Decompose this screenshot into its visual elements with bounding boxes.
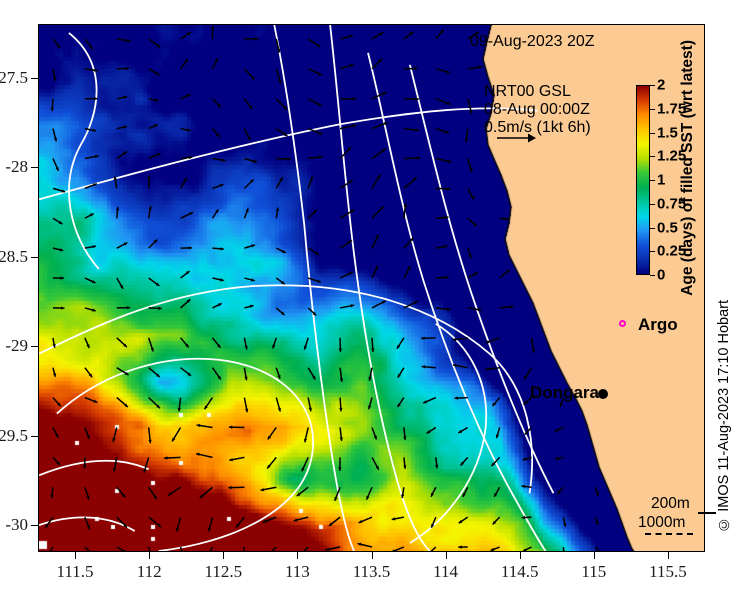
velocity-vector-head xyxy=(126,67,129,70)
bathymetry-contour xyxy=(274,25,354,551)
x-axis-tick xyxy=(75,552,76,559)
right-arrow-icon xyxy=(496,130,536,146)
bathymetry-contour xyxy=(39,108,538,199)
map-plot-area[interactable] xyxy=(38,24,705,552)
velocity-vector-head xyxy=(211,26,214,29)
bathymetry-contour xyxy=(39,517,135,531)
colorbar-tick xyxy=(650,156,655,157)
bathymetry-contour xyxy=(39,461,149,476)
velocity-vector-head xyxy=(116,207,119,211)
x-axis-tick xyxy=(668,552,669,559)
velocity-vector-head xyxy=(61,306,64,309)
colorbar-tick xyxy=(650,251,655,252)
velocity-vector xyxy=(45,547,53,551)
bathymetry-contour xyxy=(57,359,313,551)
copyright-notice: © IMOS 11-Aug-2023 17:10 Hobart xyxy=(716,300,732,532)
colorbar-tick-label: 0.5 xyxy=(657,219,678,236)
velocity-vector-head xyxy=(151,348,154,352)
velocity-vector-head xyxy=(414,67,417,70)
x-axis-tick xyxy=(594,552,595,559)
x-axis-label: 115.5 xyxy=(633,562,703,582)
dongara-label: Dongara xyxy=(530,383,599,403)
bathymetry-contour xyxy=(39,285,532,493)
velocity-vector-head xyxy=(339,348,342,351)
velocity-vector-head xyxy=(277,375,280,379)
velocity-vector-head xyxy=(220,247,224,250)
x-axis-tick xyxy=(297,552,298,559)
colorbar-tick-label: 0 xyxy=(657,267,665,284)
y-axis-label: -29.5 xyxy=(0,426,28,446)
depth-legend-200m-label: 200m xyxy=(651,495,690,513)
velocity-vector-head xyxy=(422,365,426,368)
current-timestamp-label: 08-Aug 00:00Z xyxy=(484,100,590,120)
velocity-vector-head xyxy=(458,545,461,548)
argo-marker-icon xyxy=(619,320,626,327)
velocity-vector-head xyxy=(61,276,64,279)
velocity-vector-head xyxy=(188,246,191,249)
velocity-vector-head xyxy=(445,130,449,133)
velocity-vector-head xyxy=(229,425,232,428)
velocity-vector-head xyxy=(353,97,356,100)
y-axis-tick xyxy=(31,346,38,347)
velocity-vector xyxy=(85,547,96,551)
colorbar-title: Age (days) of filled SST (wrt latest) xyxy=(679,40,697,296)
velocity-vector xyxy=(242,547,244,551)
x-axis-tick xyxy=(446,552,447,559)
velocity-vector-head xyxy=(447,187,450,190)
colorbar-tick xyxy=(650,204,655,205)
colorbar-tick xyxy=(650,228,655,229)
x-axis-label: 113 xyxy=(262,562,332,582)
y-axis-label: -30 xyxy=(0,515,28,535)
argo-label: Argo xyxy=(638,315,678,335)
bathymetry-contour xyxy=(410,324,486,543)
velocity-vector-head xyxy=(454,396,457,399)
colorbar-tick xyxy=(650,133,655,134)
depth-legend-1000m-line xyxy=(645,533,693,535)
colorbar-tick-label: 1 xyxy=(657,172,665,189)
velocity-vector-head xyxy=(272,345,275,349)
x-axis-tick xyxy=(520,552,521,559)
y-axis-label: -29 xyxy=(0,336,28,356)
colorbar[interactable] xyxy=(636,85,650,275)
dongara-marker-icon xyxy=(598,389,608,399)
x-axis-label: 111.5 xyxy=(40,562,110,582)
velocity-vector-head xyxy=(228,486,231,489)
y-axis-label: -28 xyxy=(0,157,28,177)
velocity-vector-head xyxy=(371,348,374,351)
velocity-vector-head xyxy=(287,157,290,160)
velocity-vector-head xyxy=(317,280,321,283)
x-axis-label: 113.5 xyxy=(337,562,407,582)
x-axis-tick xyxy=(223,552,224,559)
y-axis-tick xyxy=(31,257,38,258)
colorbar-tick-label: 2 xyxy=(657,77,665,94)
colorbar-tick-label: 1.5 xyxy=(657,124,678,141)
velocity-vector-head xyxy=(338,467,341,470)
colorbar-tick xyxy=(650,180,655,181)
velocity-vector-head xyxy=(147,176,150,179)
velocity-vector-head xyxy=(339,408,342,411)
y-axis-tick xyxy=(31,78,38,79)
velocity-vector-head xyxy=(164,456,167,459)
velocity-vector-head xyxy=(445,276,448,279)
x-axis-label: 114 xyxy=(411,562,481,582)
velocity-vector xyxy=(298,547,308,551)
velocity-vector-head xyxy=(403,436,406,440)
current-product-label: NRT00 GSL xyxy=(484,82,571,102)
velocity-vector-head xyxy=(468,254,471,258)
velocity-vector xyxy=(149,547,153,551)
velocity-vector-head xyxy=(127,306,130,309)
x-axis-label: 115 xyxy=(559,562,629,582)
colorbar-tick xyxy=(650,85,655,86)
date-stamp: 09-Aug-2023 20Z xyxy=(470,33,595,51)
velocity-vector xyxy=(268,547,277,551)
velocity-vector xyxy=(595,547,602,551)
y-axis-label: -28.5 xyxy=(0,247,28,267)
velocity-vector-head xyxy=(83,465,86,468)
depth-legend-1000m-label: 1000m xyxy=(638,514,685,532)
y-axis-tick xyxy=(31,436,38,437)
depth-legend-200m-line xyxy=(698,512,716,514)
y-axis-label: -27.5 xyxy=(0,68,28,88)
velocity-vector-head xyxy=(255,37,258,40)
map-overlay-layer xyxy=(39,25,704,551)
velocity-vector-head xyxy=(51,108,54,111)
velocity-vector xyxy=(563,547,564,551)
bathymetry-contour xyxy=(69,33,99,269)
velocity-vector-head xyxy=(86,496,89,500)
y-axis-tick xyxy=(31,525,38,526)
velocity-vector-head xyxy=(421,337,424,340)
velocity-vector-head xyxy=(417,156,420,159)
colorbar-tick xyxy=(650,109,655,110)
velocity-vector xyxy=(206,547,213,551)
x-axis-label: 112.5 xyxy=(188,562,258,582)
x-axis-tick xyxy=(149,552,150,559)
y-axis-tick xyxy=(31,167,38,168)
velocity-vector-head xyxy=(560,403,563,407)
x-axis-label: 112 xyxy=(114,562,184,582)
colorbar-tick xyxy=(650,275,655,276)
x-axis-tick xyxy=(372,552,373,559)
velocity-vector xyxy=(117,547,131,551)
velocity-vector-head xyxy=(522,516,525,519)
velocity-vector-head xyxy=(158,307,161,310)
x-axis-label: 114.5 xyxy=(485,562,555,582)
